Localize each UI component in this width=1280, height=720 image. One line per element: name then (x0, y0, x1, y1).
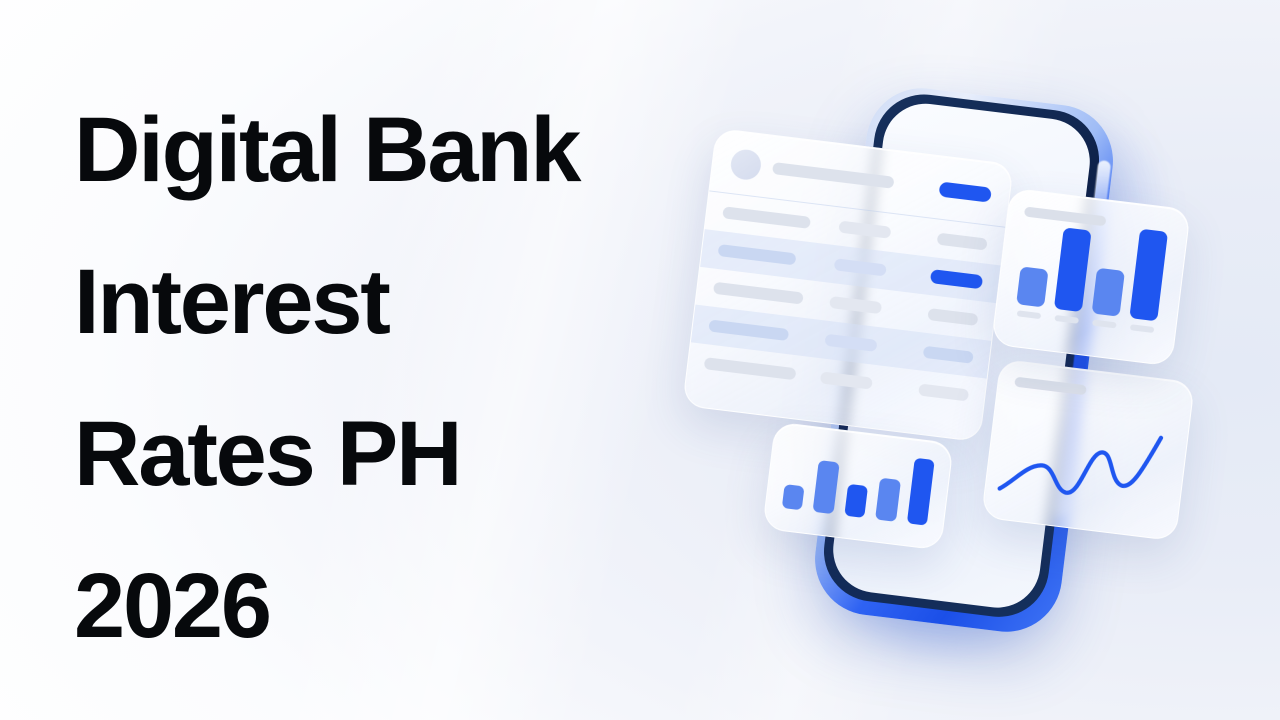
bar-chart-card-top-right[interactable] (991, 187, 1191, 366)
bar-tick-label (1017, 310, 1042, 319)
bar-chart-plot-area (1012, 224, 1170, 333)
line-chart-plot-area (994, 405, 1180, 522)
headline-line-3: Rates PH (74, 378, 714, 530)
bar-group (1051, 227, 1092, 324)
row-label-placeholder (713, 282, 804, 305)
bar (782, 484, 805, 510)
dashboard-illustration (690, 50, 1270, 690)
bar (813, 460, 840, 514)
bar-chart-title-placeholder (1024, 206, 1107, 226)
row-value-placeholder (838, 220, 891, 238)
headline-line-2: Interest (74, 226, 714, 378)
bar-chart-plot-area (763, 423, 953, 550)
row-value-placeholder (833, 258, 886, 276)
bar (1016, 266, 1048, 307)
bar-chart-card-bottom-left[interactable] (762, 421, 954, 550)
bar-tick-label (1130, 324, 1155, 333)
table-action-pill-button[interactable] (939, 181, 992, 202)
row-value-placeholder (819, 371, 872, 389)
row-rate-placeholder (927, 308, 978, 326)
page-title: Digital Bank Interest Rates PH 2026 (74, 74, 714, 682)
row-value-placeholder (829, 296, 882, 314)
bar (1054, 227, 1092, 312)
row-rate-placeholder (918, 383, 969, 401)
row-value-placeholder (824, 334, 877, 352)
bar (906, 458, 934, 526)
line-chart-title-placeholder (1014, 377, 1087, 396)
bar-tick-label (1054, 315, 1079, 324)
row-label-placeholder (718, 244, 797, 265)
row-label-placeholder (708, 319, 789, 341)
bar (1092, 268, 1125, 317)
headline-line-1: Digital Bank (74, 74, 714, 226)
bar (844, 484, 868, 518)
bar-group (1127, 229, 1169, 334)
poster-canvas: Digital Bank Interest Rates PH 2026 (0, 0, 1280, 720)
headline-line-4: 2026 (74, 530, 714, 682)
data-table-card[interactable] (682, 128, 1014, 442)
bar-tick-label (1092, 320, 1117, 329)
bar-group (1089, 268, 1126, 329)
trend-line-path (1000, 419, 1161, 507)
row-rate-placeholder (923, 346, 974, 364)
row-rate-placeholder (937, 233, 988, 251)
table-rows (686, 191, 1005, 416)
row-label-placeholder (704, 357, 797, 380)
row-rate-highlight-badge (930, 269, 983, 289)
bar-group (1014, 266, 1050, 319)
bar (1129, 229, 1168, 322)
row-label-placeholder (722, 206, 811, 229)
line-chart-card[interactable] (981, 359, 1195, 542)
bar (875, 478, 900, 522)
table-title-placeholder (772, 162, 895, 189)
avatar (729, 148, 762, 181)
